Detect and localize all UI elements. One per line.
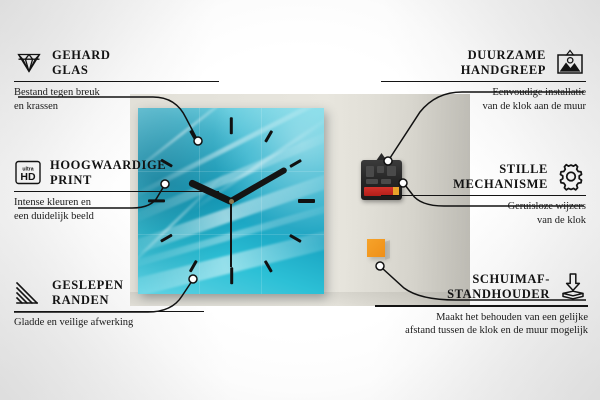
mechanism-detail [366,179,378,184]
feature-description-line-1: Bestand tegen breuk [14,86,219,100]
feature-header: GESLEPEN RANDEN [14,278,204,308]
feature-title-line-2: STANDHOUDER [447,287,550,302]
feature-title: SCHUIMAF- STANDHOUDER [447,272,550,302]
clock-hour-marker [229,267,232,284]
feature-title: DUURZAME HANDGREEP [461,48,546,78]
feature-header: GEHARD GLAS [14,48,219,78]
feature-schuimafstandhouder: SCHUIMAF- STANDHOUDER Maakt het behouden… [375,272,588,338]
feature-title-line-1: HOOGWAARDIGE [50,158,166,173]
framed-picture-icon [554,49,586,77]
feature-description-line-2: afstand tussen de klok en de muur mogeli… [375,324,588,338]
gear-icon [556,162,586,191]
feature-divider [381,81,586,83]
ultra-hd-badge-icon: ultra HD [14,159,42,186]
feature-description-line-1: Geruisloze wijzers [381,200,586,214]
feature-title-line-1: GESLEPEN [52,278,124,293]
press-down-spacer-icon [558,272,588,302]
glass-grid-line [261,108,262,294]
feature-title: STILLE MECHANISME [453,162,548,192]
infographic-canvas: GEHARD GLAS Bestand tegen breuk en krass… [0,0,600,400]
feature-gehard-glas: GEHARD GLAS Bestand tegen breuk en krass… [14,48,219,114]
feature-duurzame-handgreep: DUURZAME HANDGREEP Eenvoudige installati… [381,48,586,114]
feature-divider [14,191,219,193]
clock-hour-marker [229,117,232,134]
feature-description-line-2: van de klok aan de muur [381,100,586,114]
feature-title-line-2: HANDGREEP [461,63,546,78]
feature-description: Bestand tegen breuk en krassen [14,86,219,114]
feature-header: DUURZAME HANDGREEP [381,48,586,78]
beveled-edge-icon [14,280,44,306]
feature-description: Maakt het behouden van een gelijke afsta… [375,311,588,339]
feature-description-line-1: Intense kleuren en [14,196,219,210]
feature-title-line-2: GLAS [52,63,110,78]
feature-title-line-2: PRINT [50,173,166,188]
feature-title-line-1: SCHUIMAF- [447,272,550,287]
feature-divider [14,81,219,83]
feature-title-line-1: DUURZAME [461,48,546,63]
feature-description-line-2: van de klok [381,214,586,228]
feature-title-line-2: MECHANISME [453,177,548,192]
feature-header: SCHUIMAF- STANDHOUDER [375,272,588,302]
feature-title-line-2: RANDEN [52,293,124,308]
ultra-hd-badge-large-text: HD [20,171,36,183]
feature-divider [381,195,586,197]
clock-hour-marker [298,199,315,202]
clock-hour-marker [264,260,273,273]
diamond-icon [14,50,44,76]
feature-description: Geruisloze wijzers van de klok [381,200,586,228]
feature-header: STILLE MECHANISME [381,162,586,192]
feature-title: HOOGWAARDIGE PRINT [50,158,166,188]
feature-geslepen-randen: GESLEPEN RANDEN Gladde en veilige afwerk… [14,278,204,330]
feature-title-line-1: STILLE [453,162,548,177]
clock-second-hand [230,201,232,267]
feature-divider [14,311,204,313]
foam-spacer-pad-side [385,240,390,260]
feature-description-line-2: en krassen [14,100,219,114]
clock-center-cap [229,199,234,204]
feature-description: Eenvoudige installatie van de klok aan d… [381,86,586,114]
mechanism-detail [366,166,374,177]
feature-stille-mechanisme: STILLE MECHANISME Geruisloze wijzers van… [381,162,586,228]
feature-hoogwaardige-print: ultra HD HOOGWAARDIGE PRINT Intense kleu… [14,158,219,224]
feature-description-line-1: Gladde en veilige afwerking [14,316,204,330]
feature-description: Gladde en veilige afwerking [14,316,204,330]
feature-divider [375,305,588,307]
feature-description-line-1: Eenvoudige installatie [381,86,586,100]
feature-description: Intense kleuren en een duidelijk beeld [14,196,219,224]
feature-title: GESLEPEN RANDEN [52,278,124,308]
feature-title-line-1: GEHARD [52,48,110,63]
feature-title: GEHARD GLAS [52,48,110,78]
feature-description-line-1: Maakt het behouden van een gelijke [375,311,588,325]
feature-description-line-2: een duidelijk beeld [14,210,219,224]
foam-spacer-pad [367,239,385,257]
